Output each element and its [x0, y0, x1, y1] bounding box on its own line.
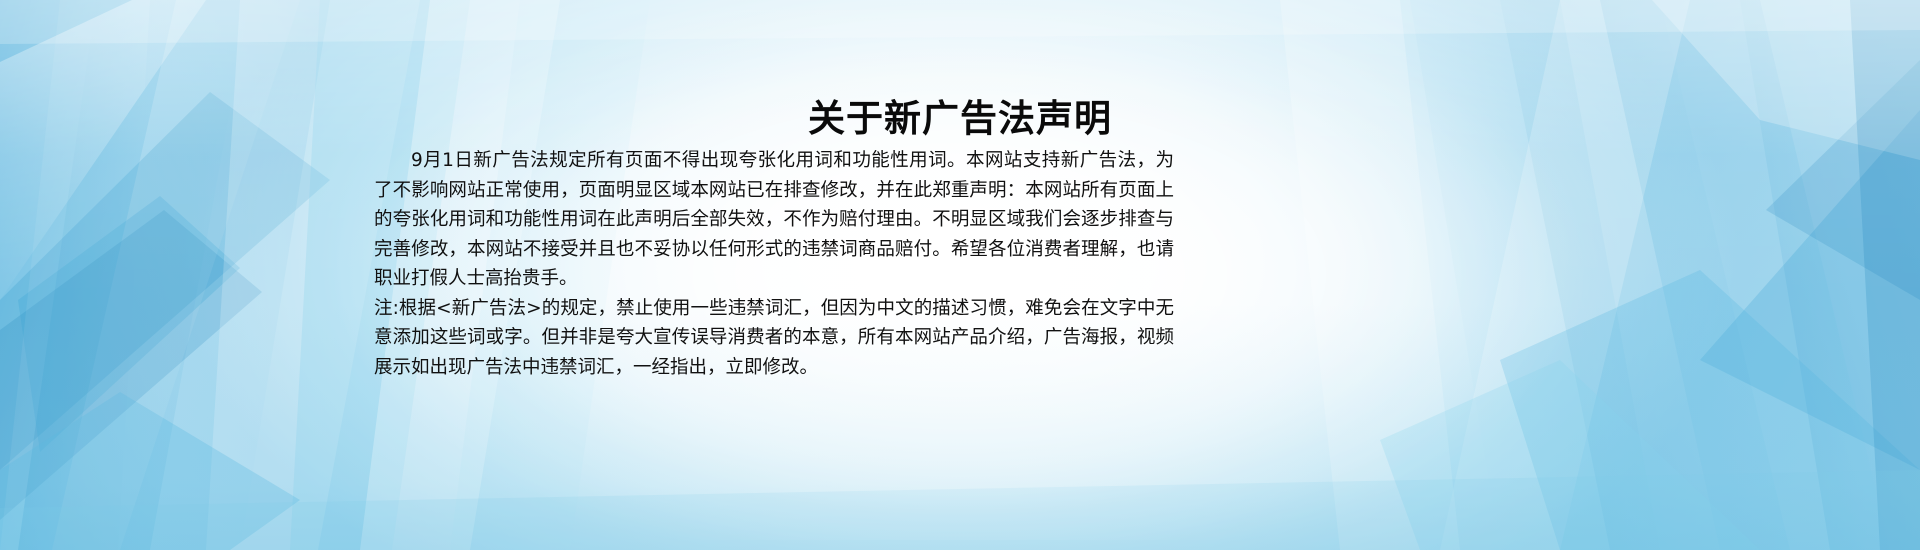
statement-body: 9月1日新广告法规定所有页面不得出现夸张化用词和功能性用词。本网站支持新广告法，…	[374, 146, 1174, 382]
page-title: 关于新广告法声明	[0, 88, 1920, 142]
statement-paragraph-main: 9月1日新广告法规定所有页面不得出现夸张化用词和功能性用词。本网站支持新广告法，…	[374, 146, 1174, 294]
statement-paragraph-note: 注:根据<新广告法>的规定，禁止使用一些违禁词汇，但因为中文的描述习惯，难免会在…	[374, 294, 1174, 383]
announcement-banner: 关于新广告法声明 9月1日新广告法规定所有页面不得出现夸张化用词和功能性用词。本…	[0, 0, 1920, 550]
announcement-content: 关于新广告法声明 9月1日新广告法规定所有页面不得出现夸张化用词和功能性用词。本…	[0, 0, 1920, 550]
